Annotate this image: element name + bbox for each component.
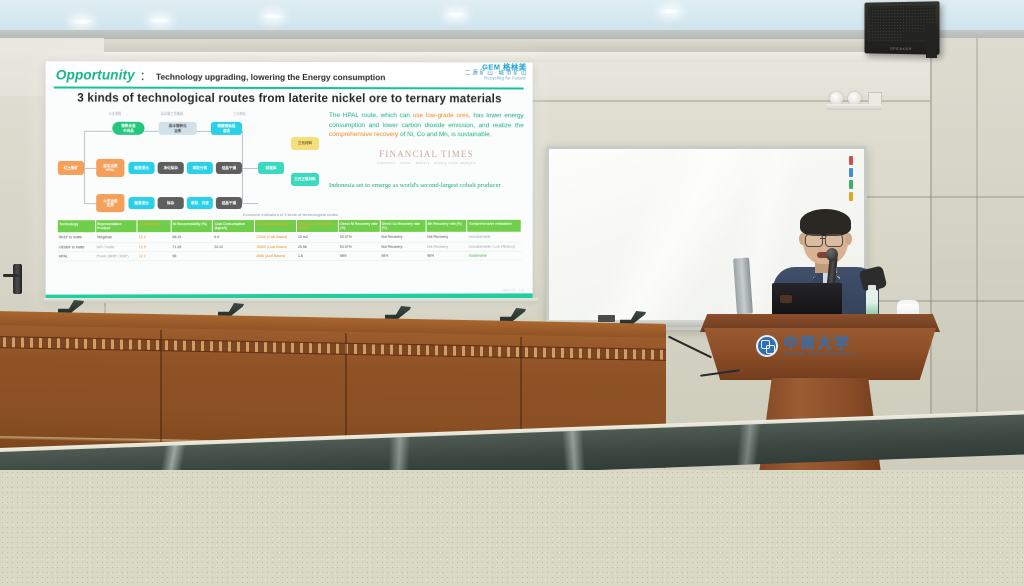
table-col-header: Energy Consumption (GJ/t) [296, 219, 338, 232]
glasses-icon [805, 234, 823, 247]
table-col-header: Direct Co Recovery rate (%) [380, 219, 426, 232]
flow-connector [84, 203, 96, 204]
flow-node: 酸浸浸出 [128, 162, 154, 174]
flow-connector [197, 131, 211, 132]
glasses-icon [825, 234, 843, 247]
table-cell: OESBF to matte [57, 242, 95, 251]
flow-node: 结晶干燥 [216, 162, 242, 174]
table-cell: 98 [171, 252, 213, 261]
laptop-logo-icon [780, 295, 792, 303]
flow-node: 镍铁合金 中间品 [112, 122, 144, 135]
table-cell: 93-97% [338, 242, 380, 251]
table-col-header: CO₂ Emission (kg/t) [255, 219, 297, 232]
flow-node: 硫酸镍钴锰 溶液 [211, 122, 242, 135]
flow-connector [84, 168, 85, 203]
university-name-cn: 中南大学 [783, 336, 858, 351]
process-flow-diagram: 火法流程 高冰镍工艺路线 三元材料 镍铁合金 中间品 高冰镍转化 冶炼 硫酸镍钴… [56, 111, 319, 212]
emergency-light [826, 92, 882, 110]
quote-part-1: The HPAL route, which can [329, 112, 413, 119]
table-cell: 93-97% [338, 233, 380, 242]
ceiling-downlight [72, 18, 92, 25]
door-handle-lever-icon[interactable] [3, 274, 19, 277]
table-header-row: Technology Representative Product Ni Gra… [57, 219, 521, 233]
flow-node: 红土镍矿 [58, 161, 84, 175]
flow-caption-top-3: 三元材料 [233, 111, 246, 116]
flow-caption-top-2: 高冰镍工艺路线 [161, 111, 183, 116]
table-cell [213, 251, 255, 260]
presenter-ear-right [845, 233, 852, 245]
ceiling-downlight [263, 13, 283, 20]
door-lock-plate[interactable] [13, 264, 22, 294]
flow-node: 除杂 [158, 197, 184, 209]
flow-node: 结晶干燥 [216, 197, 242, 209]
table-cell: 1.6 [296, 251, 338, 260]
overhead-bulkhead [104, 38, 930, 53]
lecture-hall-photo: SPEAKER GEM 格林美 二 源 矿 山 · 城 市 矿 山 Recycl… [0, 0, 1024, 586]
table-cell: 4556 (Acid Based) [255, 251, 297, 260]
podium-university-crest: 中南大学 CENTRAL SOUTH UNIVERSITY [756, 331, 884, 361]
quote-part-3: of Ni, Co and Mn, is sustainable. [398, 131, 491, 138]
table-cell: NPI / matte [95, 242, 137, 251]
flow-node: 三元材料 [291, 137, 319, 150]
flow-connector [145, 131, 159, 132]
table-cell: HPAL [57, 252, 95, 261]
wall-seam-vertical [976, 38, 978, 428]
table-col-header: Mn Recovery rate (%) [426, 219, 467, 232]
table-cell: 98% [338, 251, 380, 260]
flow-node: 湿法冶炼 HPAL [96, 159, 124, 177]
carpet-floor [0, 470, 1024, 586]
table-cell: 71.28 [171, 242, 213, 251]
table-cell: Not Recovery [380, 242, 426, 251]
table-row: HPAL Power (MHP / MSP) 12.2 98 4556 (Aci… [57, 251, 521, 261]
flow-node: 萃取分离 [187, 162, 213, 174]
slide-title-colon: ： [140, 68, 151, 84]
table-cell: Unsustainable [467, 232, 521, 241]
carpet-texture [0, 470, 1024, 586]
ceiling-downlight [446, 11, 466, 18]
table-cell: Not Recovery [426, 232, 467, 241]
wall-seam [860, 300, 1024, 302]
table-col-header: Ni Recoverability (%) [171, 220, 213, 233]
table-cell: Unsustainable / Low efficiency [467, 242, 521, 251]
ceiling-downlight [150, 17, 170, 24]
glasses-bridge-icon [820, 238, 826, 239]
laptop[interactable] [772, 283, 842, 316]
table-col-header: Ni Grade (%) [137, 220, 171, 233]
ceiling-downlight [660, 8, 680, 15]
desk-panel-seam [345, 333, 347, 445]
projected-slide: GEM 格林美 二 源 矿 山 · 城 市 矿 山 Recycling for … [46, 61, 533, 299]
quote-highlight-2: comprehensive recovery [329, 131, 398, 138]
table-cell: 22040 (Coal Based) [255, 233, 297, 242]
presenter-hair [800, 209, 851, 236]
table-col-header: Comprehensive evaluation [467, 219, 521, 232]
slide-title-row: Opportunity ： Technology upgrading, lowe… [56, 67, 527, 86]
marker-blue-icon[interactable] [849, 168, 853, 177]
table-col-header: Representative Product [95, 220, 137, 233]
slide-title-underline [54, 86, 524, 89]
table-col-header: Technology [57, 220, 95, 233]
flow-node: 酸浸浸出 [128, 197, 154, 209]
speaker-brand-label: SPEAKER [890, 46, 912, 51]
table-cell: 10 m3 [296, 233, 338, 242]
quote-highlight-1: use low-grade ores [413, 112, 469, 119]
quote-source-subtitle: Indonesia · nickel · battery · supply ch… [329, 161, 524, 165]
flow-node: 萃取、沉淀 [187, 197, 213, 209]
slide-heading: 3 kinds of technological routes from lat… [46, 91, 533, 105]
university-name-en: CENTRAL SOUTH UNIVERSITY [783, 353, 858, 357]
flow-node: 高冰镍转化 冶炼 [159, 122, 197, 135]
table-cell: Sustainable [467, 251, 521, 260]
slide-quote-block: The HPAL route, which can use low-grade … [329, 111, 524, 190]
table-cell: 15500 (Coal Based) [255, 242, 297, 251]
flow-connector [242, 131, 243, 169]
economic-indicators-table: Technology Representative Product Ni Gra… [57, 219, 522, 262]
flow-node: 前驱体 [258, 162, 284, 174]
flow-connector [242, 168, 258, 169]
projector-screen-bottom-rail [44, 298, 538, 303]
quote-pull-quote: Indonesia set to emerge as world's secon… [329, 181, 524, 191]
table-cell: 20.56 [296, 242, 338, 251]
flow-node: 火法冶炼 还原 [96, 194, 124, 212]
table-cell: Not Recovery [380, 232, 426, 241]
soffit-band [104, 52, 930, 62]
flow-connector [84, 131, 112, 132]
flow-node: 三元正极材料 [291, 173, 319, 186]
table-col-header: Coal Consumption (kgce/t) [213, 220, 255, 233]
flow-connector [84, 131, 85, 169]
table-cell: 12.2 [137, 252, 171, 261]
slide-title: Opportunity [56, 67, 135, 82]
flow-connector [242, 168, 243, 203]
table-col-header: Direct Ni Recovery rate (%) [338, 219, 380, 232]
marker-orange-icon[interactable] [849, 192, 853, 201]
wall-seam [860, 196, 1024, 198]
table-cell: 98% [380, 251, 426, 260]
slide-subtitle: Technology upgrading, lowering the Energ… [156, 72, 385, 83]
flow-connector [84, 168, 96, 169]
emergency-light-bar [826, 104, 882, 110]
table-cell: 12.5 [137, 233, 171, 242]
table-cell: 6.9 [213, 233, 255, 242]
university-name-block: 中南大学 CENTRAL SOUTH UNIVERSITY [783, 336, 858, 357]
table-cell: Tangshan [95, 233, 137, 242]
table-cell: 98% [426, 251, 467, 260]
desk-panel-seam [160, 330, 162, 442]
flow-node: 净化除杂 [158, 162, 184, 174]
flow-caption-top-1: 火法流程 [108, 111, 121, 116]
table-caption: Economic indicators of 3 kinds of techno… [46, 212, 533, 217]
table-cell: 12.5 [137, 242, 171, 251]
university-seal-icon [756, 335, 778, 357]
microphone-head-icon [826, 248, 838, 261]
whiteboard-eraser[interactable] [598, 315, 615, 322]
flow-connector [242, 203, 258, 204]
quote-source: FINANCIAL TIMES [329, 149, 524, 159]
table-cell: 20.22 [213, 242, 255, 251]
table-cell: Not Recovery [426, 242, 467, 251]
marker-red-icon[interactable] [849, 156, 853, 165]
table-cell: 58.15 [171, 233, 213, 242]
marker-green-icon[interactable] [849, 180, 853, 189]
quote-paragraph: The HPAL route, which can use low-grade … [329, 111, 524, 140]
slide-footer-note: GEM Co., Ltd. [502, 288, 525, 292]
table-cell: RKEF to matte [57, 233, 95, 242]
table-cell: Power (MHP / MSP) [95, 252, 137, 261]
